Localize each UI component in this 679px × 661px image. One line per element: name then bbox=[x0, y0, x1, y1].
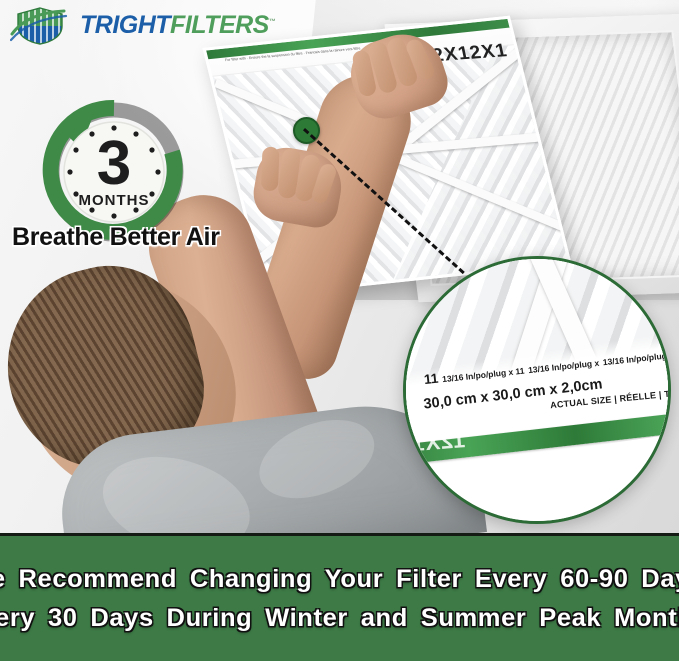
recommendation-banner: We Recommend Changing Your Filter Every … bbox=[0, 533, 679, 661]
dimension-imperial-end: 13/16 In/po/plug bbox=[602, 351, 667, 368]
shirt-fold bbox=[248, 405, 385, 513]
dimension-imperial-pre: 11 bbox=[423, 371, 439, 387]
trademark-symbol: ™ bbox=[269, 18, 276, 25]
brand-name-part1: TRIGHT bbox=[80, 11, 170, 39]
badge-unit: MONTHS bbox=[79, 192, 150, 209]
finger bbox=[261, 147, 280, 192]
banner-line-2: Every 30 Days During Winter and Summer P… bbox=[0, 604, 679, 633]
banner-line-1: We Recommend Changing Your Filter Every … bbox=[0, 565, 679, 594]
product-infographic: For filter with · Ensure the la suspensi… bbox=[0, 0, 679, 661]
brand-name-part2: FILTERS bbox=[170, 11, 269, 39]
badge-number: 3 bbox=[97, 129, 131, 198]
dimension-imperial-mid: 13/16 In/po/plug x bbox=[528, 358, 600, 375]
tagline-text: Breathe Better Air bbox=[12, 223, 220, 252]
dimension-imperial-main: 13/16 In/po/plug x 11 bbox=[442, 366, 525, 385]
magnifier-circle-icon: 11 13/16 In/po/plug x 11 13/16 In/po/plu… bbox=[403, 256, 671, 524]
magnified-band-size-label: 12X12X1 bbox=[403, 427, 467, 460]
brand-name: TRIGHTFILTERS™ bbox=[80, 13, 275, 38]
product-photo-area: For filter with · Ensure the la suspensi… bbox=[0, 0, 679, 533]
shirt-fold bbox=[92, 442, 260, 533]
shield-filter-icon bbox=[10, 4, 72, 46]
brand-logo[interactable]: TRIGHTFILTERS™ bbox=[10, 4, 275, 46]
